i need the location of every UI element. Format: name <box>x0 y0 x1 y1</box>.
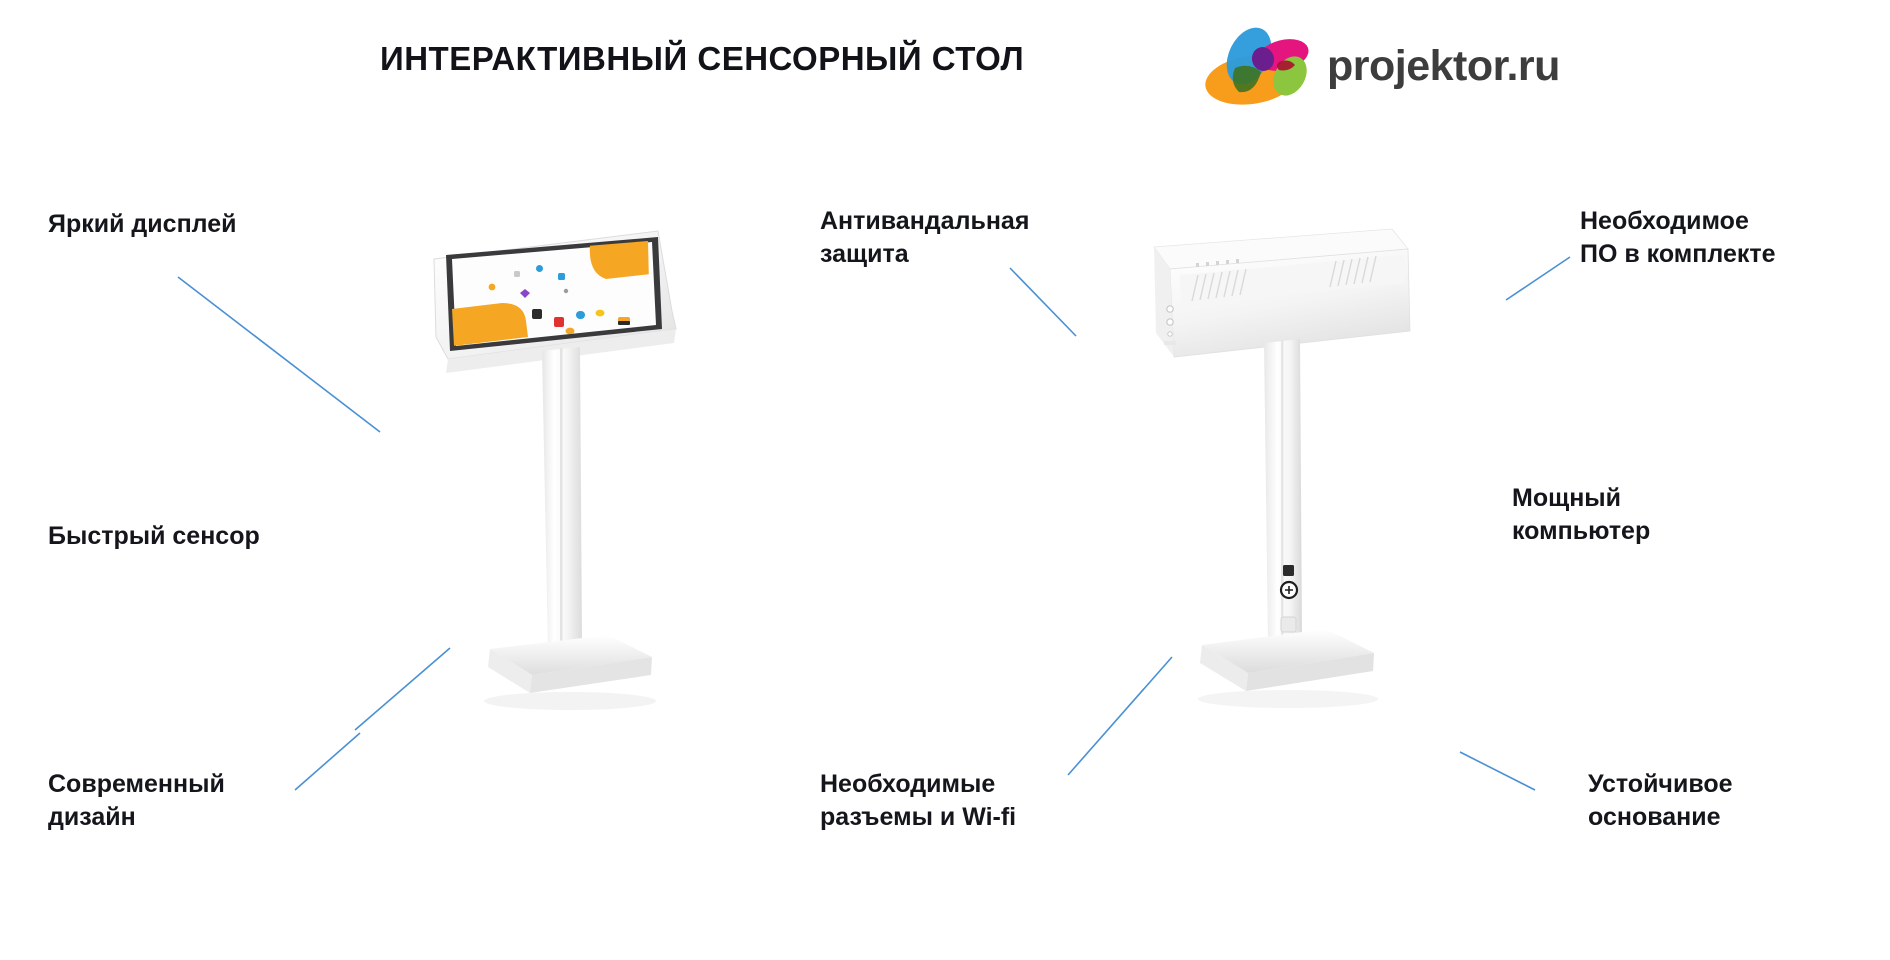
feature-label-software-included: Необходимое ПО в комплекте <box>1580 205 1776 272</box>
feature-label-modern-design: Современный дизайн <box>48 768 225 835</box>
feature-label-vandal-protection: Антивандальная защита <box>820 205 1029 272</box>
connector-bright-display <box>178 277 380 432</box>
feature-label-fast-sensor: Быстрый сенсор <box>48 520 260 553</box>
connector-modern-design <box>295 733 360 790</box>
feature-label-powerful-computer: Мощный компьютер <box>1512 482 1650 549</box>
connector-stable-base <box>1460 752 1535 790</box>
kiosk-column-edge <box>560 348 563 646</box>
brand-logo[interactable]: projektor.ru <box>1205 18 1565 110</box>
connector-vandal-protection <box>1010 268 1076 336</box>
brand-wordmark: projektor.ru <box>1327 42 1560 91</box>
feature-label-ports-wifi: Необходимые разъемы и Wi-fi <box>820 768 1016 835</box>
kiosk-front-view <box>430 225 760 785</box>
kiosk-shadow <box>1198 690 1378 708</box>
poster-canvas: ИНТЕРАКТИВНЫЙ СЕНСОРНЫЙ СТОЛ projektor.r… <box>0 0 1890 960</box>
page-title: ИНТЕРАКТИВНЫЙ СЕНСОРНЫЙ СТОЛ <box>380 40 1024 78</box>
feature-label-bright-display: Яркий дисплей <box>48 208 237 241</box>
connector-software-included <box>1506 257 1570 300</box>
feature-label-stable-base: Устойчивое основание <box>1588 768 1733 835</box>
kiosk-shadow <box>484 692 656 710</box>
projektor-logo-icon <box>1205 18 1325 110</box>
kiosk-rear-view <box>1140 225 1470 785</box>
